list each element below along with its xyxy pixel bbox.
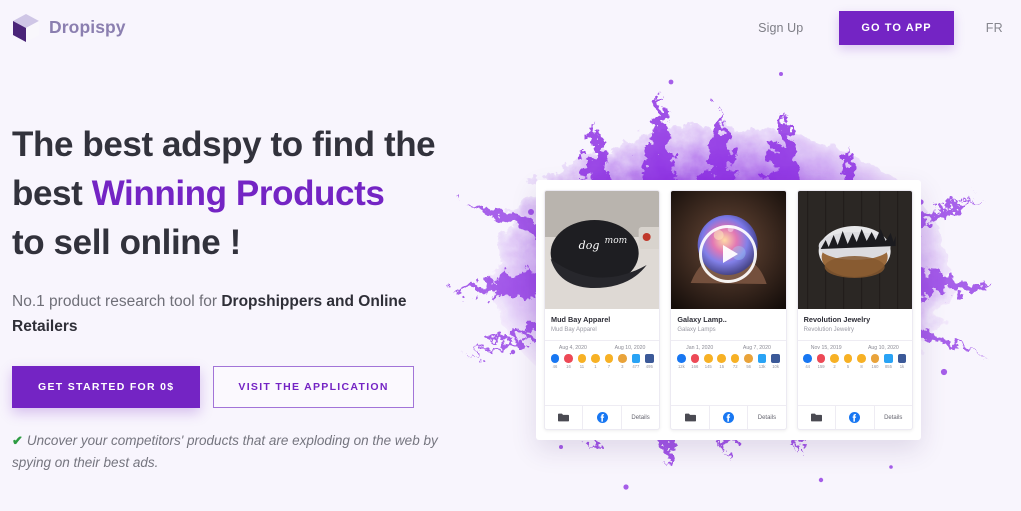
- wow-icon: [717, 354, 726, 363]
- card-actions: Details: [545, 405, 659, 429]
- reaction-count: 477: [632, 364, 639, 369]
- reaction-shares: 10k: [770, 354, 782, 369]
- card-title: Revolution Jewelry: [804, 315, 906, 325]
- reaction-shares: 495: [643, 354, 655, 369]
- reaction-wow: 5: [842, 354, 854, 369]
- share-icon: [771, 354, 780, 363]
- reaction-count: 56: [746, 364, 751, 369]
- like-icon: [551, 354, 560, 363]
- angry-icon: [618, 354, 627, 363]
- folder-icon: [811, 413, 822, 422]
- angry-icon: [871, 354, 880, 363]
- save-to-folder-button[interactable]: [545, 406, 582, 429]
- card-date-range: Nov 15, 2019 Aug 10, 2020: [798, 340, 912, 354]
- reaction-wow: 15: [716, 354, 728, 369]
- sad-icon: [605, 354, 614, 363]
- language-toggle[interactable]: FR: [986, 21, 1003, 35]
- reaction-angry: 56: [743, 354, 755, 369]
- card-title: Mud Bay Apparel: [551, 315, 653, 325]
- card-actions: Details: [671, 405, 785, 429]
- card-reactions: 46 16 11 1 7 3 477 495: [545, 354, 659, 374]
- save-to-folder-button[interactable]: [671, 406, 708, 429]
- card-subtitle: Revolution Jewelry: [804, 326, 906, 335]
- reaction-angry: 160: [869, 354, 881, 369]
- share-icon: [645, 354, 654, 363]
- hero-copy: The best adspy to find the best Winning …: [12, 120, 482, 474]
- reaction-count: 46: [553, 364, 558, 369]
- card-subtitle: Galaxy Lamps: [677, 326, 779, 335]
- card-date-start: Aug 4, 2020: [559, 345, 587, 351]
- save-to-folder-button[interactable]: [798, 406, 835, 429]
- reaction-haha: 145: [702, 354, 714, 369]
- reaction-count: 1: [594, 364, 596, 369]
- facebook-link-button[interactable]: [582, 406, 620, 429]
- facebook-icon: [723, 412, 734, 423]
- reaction-sad: 8: [856, 354, 868, 369]
- reaction-count: 72: [733, 364, 738, 369]
- product-card[interactable]: dog mom Mud Bay Apparel Mud Bay Apparel …: [544, 190, 660, 430]
- reaction-angry: 3: [616, 354, 628, 369]
- card-media[interactable]: dog mom: [545, 191, 659, 309]
- reaction-haha: 11: [576, 354, 588, 369]
- brand-name: Dropispy: [49, 17, 126, 38]
- facebook-icon: [849, 412, 860, 423]
- details-button[interactable]: Details: [874, 406, 912, 429]
- card-actions: Details: [798, 405, 912, 429]
- reaction-wow: 1: [589, 354, 601, 369]
- check-icon: ✔: [12, 433, 23, 448]
- hero-tagline: ✔Uncover your competitors' products that…: [12, 430, 442, 474]
- play-button[interactable]: [699, 225, 757, 283]
- hero-subtitle: No.1 product research tool for Dropshipp…: [12, 289, 452, 339]
- reaction-count: 855: [885, 364, 892, 369]
- cube-logo-icon: [12, 13, 40, 43]
- love-icon: [817, 354, 826, 363]
- reaction-count: 145: [705, 364, 712, 369]
- reaction-comments: 855: [882, 354, 894, 369]
- reaction-shares: 1k: [896, 354, 908, 369]
- reaction-like: 12k: [675, 354, 687, 369]
- reaction-sad: 72: [729, 354, 741, 369]
- reaction-count: 2: [833, 364, 835, 369]
- card-date-start: Jan 1, 2020: [686, 345, 713, 351]
- card-body: Revolution Jewelry Revolution Jewelry: [798, 309, 912, 335]
- card-reactions: 44 159 2 5 8 160 855 1k: [798, 354, 912, 374]
- wow-icon: [591, 354, 600, 363]
- card-body: Mud Bay Apparel Mud Bay Apparel: [545, 309, 659, 335]
- sad-icon: [857, 354, 866, 363]
- headline-accent: Winning Products: [92, 174, 385, 213]
- reaction-haha: 2: [829, 354, 841, 369]
- get-started-button[interactable]: GET STARTED FOR 0$: [12, 366, 200, 408]
- haha-icon: [830, 354, 839, 363]
- headline-line-2-prefix: best: [12, 174, 92, 213]
- page-title: The best adspy to find the best Winning …: [12, 120, 482, 267]
- product-image-ring: [798, 191, 912, 309]
- svg-text:dog: dog: [579, 239, 600, 252]
- sad-icon: [731, 354, 740, 363]
- card-date-end: Aug 10, 2020: [868, 345, 899, 351]
- reaction-love: 16: [562, 354, 574, 369]
- cta-row: GET STARTED FOR 0$ VISIT THE APPLICATION: [12, 366, 482, 408]
- comment-icon: [884, 354, 893, 363]
- sign-up-link[interactable]: Sign Up: [758, 21, 803, 35]
- reaction-count: 7: [608, 364, 610, 369]
- like-icon: [803, 354, 812, 363]
- card-subtitle: Mud Bay Apparel: [551, 326, 653, 335]
- reaction-sad: 7: [603, 354, 615, 369]
- reaction-count: 13k: [759, 364, 766, 369]
- card-media[interactable]: [798, 191, 912, 309]
- reaction-count: 15: [719, 364, 724, 369]
- reaction-count: 12k: [678, 364, 685, 369]
- product-card[interactable]: Galaxy Lamp.. Galaxy Lamps Jan 1, 2020 A…: [670, 190, 786, 430]
- facebook-link-button[interactable]: [835, 406, 873, 429]
- reaction-like: 46: [549, 354, 561, 369]
- reaction-comments: 477: [630, 354, 642, 369]
- like-icon: [677, 354, 686, 363]
- share-icon: [898, 354, 907, 363]
- love-icon: [564, 354, 573, 363]
- hero-artwork: dog mom Mud Bay Apparel Mud Bay Apparel …: [421, 52, 1021, 511]
- love-icon: [691, 354, 700, 363]
- product-card[interactable]: Revolution Jewelry Revolution Jewelry No…: [797, 190, 913, 430]
- haha-icon: [578, 354, 587, 363]
- go-to-app-button[interactable]: GO TO APP: [839, 11, 953, 45]
- details-button[interactable]: Details: [621, 406, 659, 429]
- card-title: Galaxy Lamp..: [677, 315, 779, 325]
- reaction-count: 1k: [900, 364, 904, 369]
- reaction-count: 44: [805, 364, 810, 369]
- haha-icon: [704, 354, 713, 363]
- card-date-start: Nov 15, 2019: [811, 345, 842, 351]
- card-media[interactable]: [671, 191, 785, 309]
- reaction-count: 495: [646, 364, 653, 369]
- play-icon: [723, 245, 738, 263]
- wow-icon: [844, 354, 853, 363]
- comment-icon: [758, 354, 767, 363]
- reaction-count: 3: [621, 364, 623, 369]
- product-cards-panel: dog mom Mud Bay Apparel Mud Bay Apparel …: [536, 180, 921, 440]
- card-reactions: 12k 166 145 15 72 56 13k 10k: [671, 354, 785, 374]
- visit-application-button[interactable]: VISIT THE APPLICATION: [213, 366, 413, 408]
- comment-icon: [632, 354, 641, 363]
- tagline-text: Uncover your competitors' products that …: [12, 433, 438, 470]
- folder-icon: [558, 413, 569, 422]
- card-body: Galaxy Lamp.. Galaxy Lamps: [671, 309, 785, 335]
- headline-line-3: to sell online !: [12, 223, 241, 262]
- reaction-love: 166: [689, 354, 701, 369]
- details-button[interactable]: Details: [747, 406, 785, 429]
- reaction-comments: 13k: [756, 354, 768, 369]
- headline-line-1: The best adspy to find the: [12, 125, 435, 164]
- brand-logo[interactable]: Dropispy: [12, 13, 126, 43]
- reaction-love: 159: [815, 354, 827, 369]
- facebook-icon: [597, 412, 608, 423]
- reaction-count: 5: [847, 364, 849, 369]
- reaction-like: 44: [802, 354, 814, 369]
- card-date-range: Jan 1, 2020 Aug 7, 2020: [671, 340, 785, 354]
- reaction-count: 10k: [772, 364, 779, 369]
- card-date-range: Aug 4, 2020 Aug 10, 2020: [545, 340, 659, 354]
- subtitle-prefix: No.1 product research tool for: [12, 293, 221, 310]
- reaction-count: 159: [818, 364, 825, 369]
- angry-icon: [744, 354, 753, 363]
- reaction-count: 8: [860, 364, 862, 369]
- reaction-count: 160: [872, 364, 879, 369]
- header-actions: Sign Up GO TO APP FR: [758, 11, 1003, 45]
- card-date-end: Aug 7, 2020: [743, 345, 771, 351]
- reaction-count: 166: [691, 364, 698, 369]
- folder-icon: [685, 413, 696, 422]
- site-header: Dropispy Sign Up GO TO APP FR: [0, 0, 1021, 55]
- facebook-link-button[interactable]: [709, 406, 747, 429]
- product-image-hat: dog mom: [545, 191, 659, 309]
- svg-text:mom: mom: [605, 236, 628, 246]
- card-date-end: Aug 10, 2020: [615, 345, 646, 351]
- reaction-count: 16: [566, 364, 571, 369]
- reaction-count: 11: [580, 364, 584, 369]
